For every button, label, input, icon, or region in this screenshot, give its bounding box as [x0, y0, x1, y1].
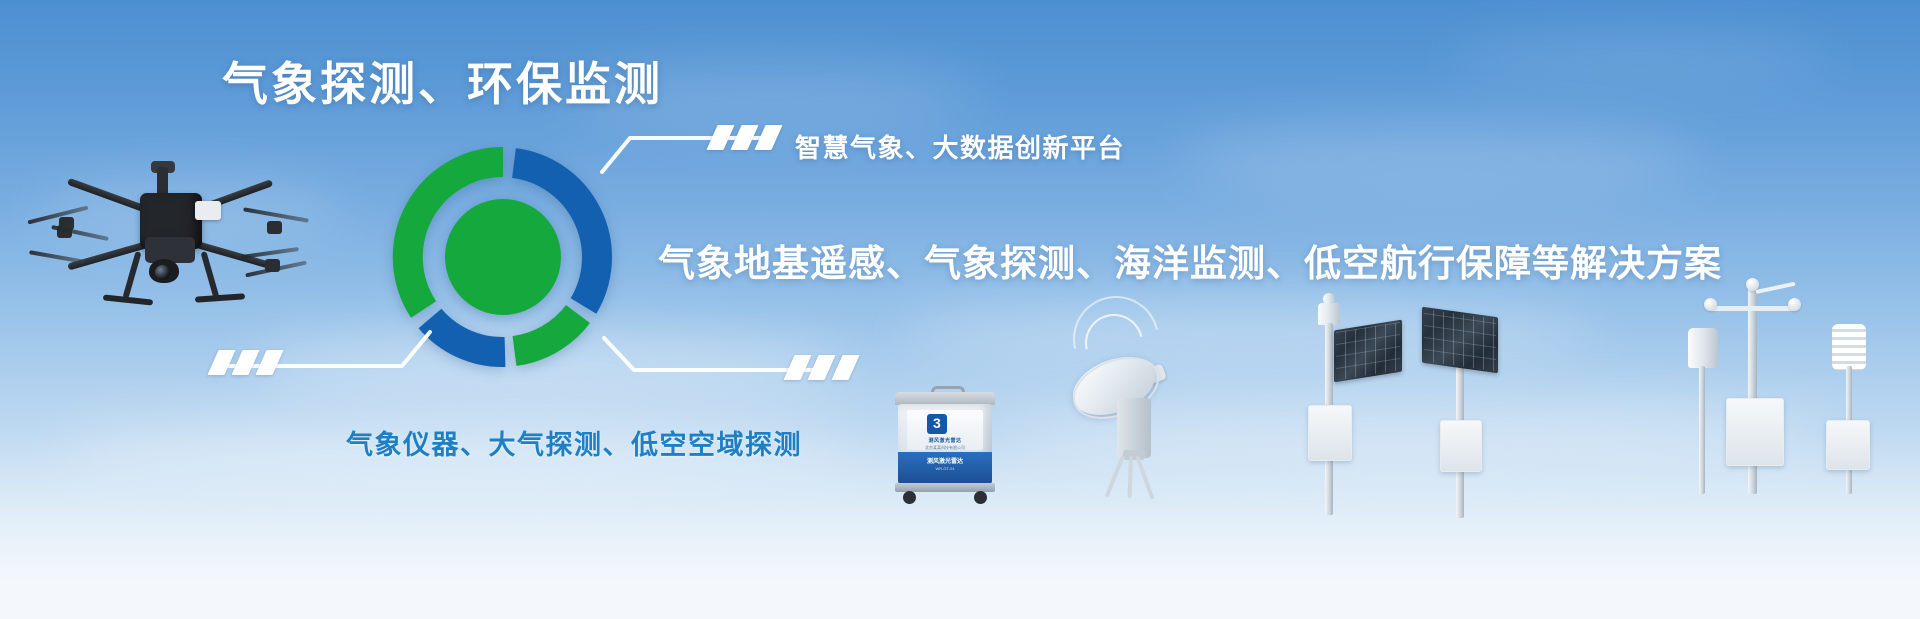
cabinet-panel-text: 测风激光雷达	[909, 437, 981, 444]
lidar-cabinet-photo: 测风激光雷达 北京某某科技有限公司 测风激光雷达 WR-GT-01	[895, 392, 995, 504]
drone-motor	[267, 221, 282, 234]
satellite-dish-photo	[1065, 350, 1195, 500]
weather-banner: 气象探测、环保监测 智慧气象、大数据创新平台 气	[0, 0, 1920, 619]
label-instruments: 气象仪器、大气探测、低空空域探测	[346, 423, 802, 462]
solar-weather-station-photo	[1410, 300, 1530, 525]
solar-panel	[1334, 320, 1402, 383]
cloud-decoration	[1180, 120, 1700, 200]
cloud-decoration	[1450, 30, 1830, 86]
anemometer-cup	[1704, 298, 1717, 311]
junction-box	[1826, 420, 1870, 470]
slash-marks-top	[712, 125, 777, 150]
cabinet-brand-logo	[927, 414, 947, 434]
cabinet-wheel	[974, 491, 987, 504]
drone-sensor-box	[195, 201, 221, 220]
station-sensor	[1318, 303, 1340, 325]
electronics-box	[1440, 420, 1482, 472]
drone-photo	[45, 155, 290, 345]
cabinet-label-title: 测风激光雷达	[909, 456, 981, 465]
label-smart-meteorology: 智慧气象、大数据创新平台	[795, 128, 1125, 165]
weather-mast-photo	[1600, 270, 1900, 525]
station-sensor	[1323, 293, 1335, 305]
cabinet-panel-subtext: 北京某某科技有限公司	[909, 445, 981, 451]
slash-marks-left	[213, 350, 278, 375]
cabinet-wheel	[903, 491, 916, 504]
radiation-shield	[1832, 324, 1866, 370]
drone-camera-lens	[155, 265, 170, 280]
wind-vane	[1756, 282, 1796, 294]
label-solutions: 气象地基遥感、气象探测、海洋监测、低空航行保障等解决方案	[658, 233, 1722, 287]
donut-diagram	[392, 146, 614, 368]
electronics-box	[1308, 405, 1352, 461]
slash-marks-right	[789, 355, 854, 380]
ground-fade	[0, 549, 1920, 619]
rain-gauge	[1688, 328, 1718, 368]
solar-weather-station-photo	[1290, 295, 1400, 525]
cabinet-label-model: WR-GT-01	[909, 466, 981, 471]
page-title: 气象探测、环保监测	[222, 48, 663, 114]
anemometer-cup	[1788, 298, 1801, 311]
data-logger-box	[1726, 398, 1784, 466]
solar-panel	[1422, 307, 1498, 374]
